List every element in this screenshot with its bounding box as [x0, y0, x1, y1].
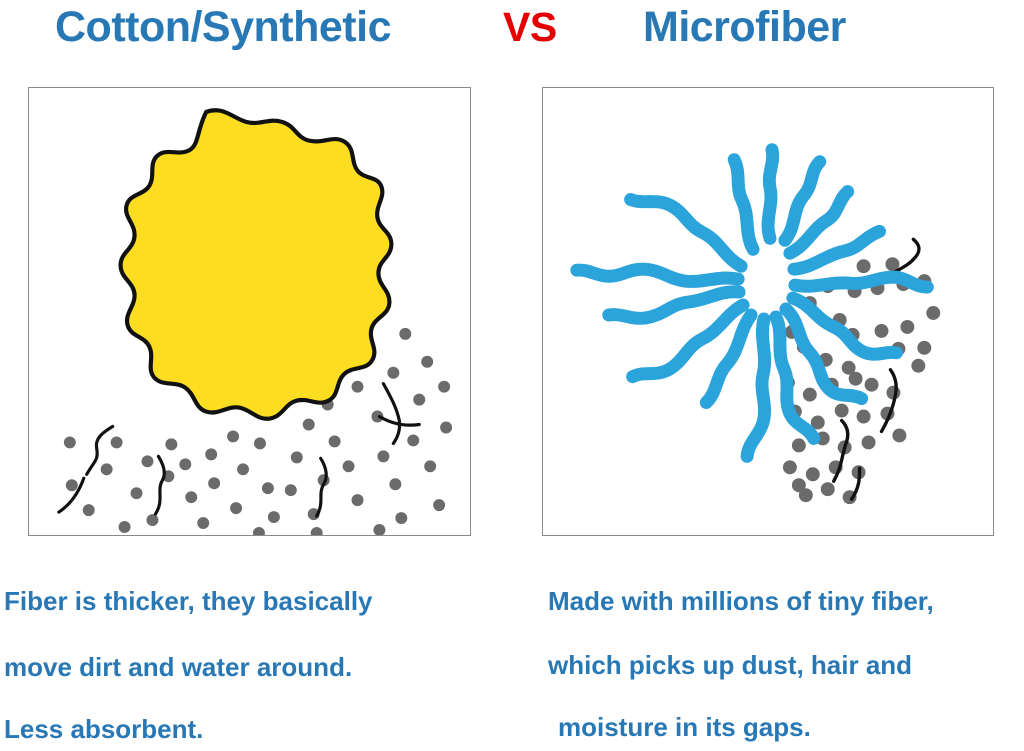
cotton-synthetic-illustration	[28, 87, 471, 536]
right-caption-line-3: moisture in its gaps.	[558, 712, 811, 742]
microfiber-svg	[543, 88, 993, 535]
comparison-slide: Cotton/Synthetic VS Microfiber	[0, 0, 1024, 751]
microfiber-illustration	[542, 87, 994, 536]
right-caption-line-2: which picks up dust, hair and	[548, 650, 912, 680]
left-caption-line-1: Fiber is thicker, they basically	[4, 586, 373, 616]
right-panel-title: Microfiber	[643, 2, 846, 52]
left-panel-title: Cotton/Synthetic	[55, 2, 391, 52]
right-caption-line-1: Made with millions of tiny fiber,	[548, 586, 934, 616]
versus-label: VS	[503, 2, 557, 52]
microfiber-strands-starburst	[577, 150, 927, 457]
left-caption-line-3: Less absorbent.	[4, 714, 203, 744]
cotton-synthetic-svg	[29, 88, 470, 535]
title-row: Cotton/Synthetic VS Microfiber	[0, 0, 1024, 62]
left-caption-line-2: move dirt and water around.	[4, 652, 352, 682]
thick-yellow-fiber-blob	[121, 110, 392, 419]
